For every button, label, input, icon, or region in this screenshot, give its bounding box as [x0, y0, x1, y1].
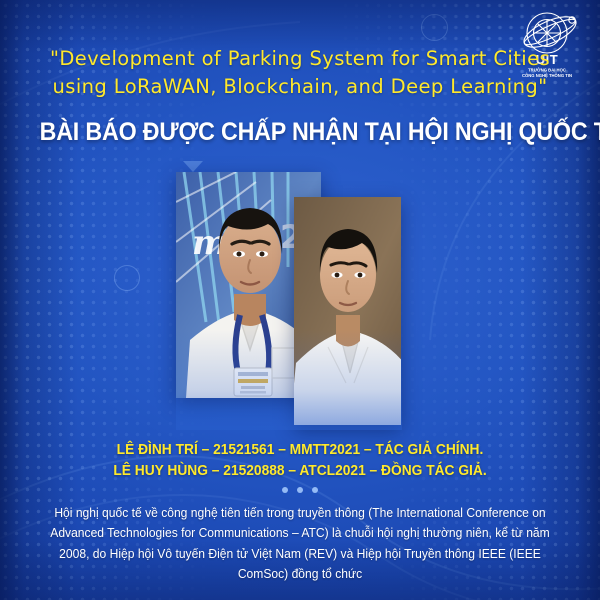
author-credit-line-2: LÊ HUY HÙNG – 21520888 – ATCL2021 – ĐỒNG… — [34, 461, 566, 482]
author-credits: LÊ ĐÌNH TRÍ – 21521561 – MMTT2021 – TÁC … — [34, 440, 566, 482]
paper-title: "Development of Parking System for Smart… — [35, 45, 565, 100]
separator-dot — [312, 487, 318, 493]
poster-canvas: UIT TRƯỜNG ĐẠI HỌC CÔNG NGHỆ THÔNG TIN "… — [0, 0, 600, 600]
headline-banner: BÀI BÁO ĐƯỢC CHẤP NHẬN TẠI HỘI NGHỊ QUỐC… — [40, 118, 561, 147]
circle-outline-icon-top — [421, 14, 448, 41]
dot-separator — [282, 487, 318, 493]
separator-dot — [282, 487, 288, 493]
circle-outline-icon-left — [114, 265, 140, 291]
separator-dot — [297, 487, 303, 493]
triangle-down-icon — [183, 161, 203, 172]
author-photo-le-huy-hung — [294, 197, 401, 425]
author-credit-line-1: LÊ ĐÌNH TRÍ – 21521561 – MMTT2021 – TÁC … — [34, 440, 566, 461]
conference-description: Hội nghị quốc tế về công nghệ tiên tiến … — [37, 503, 563, 585]
